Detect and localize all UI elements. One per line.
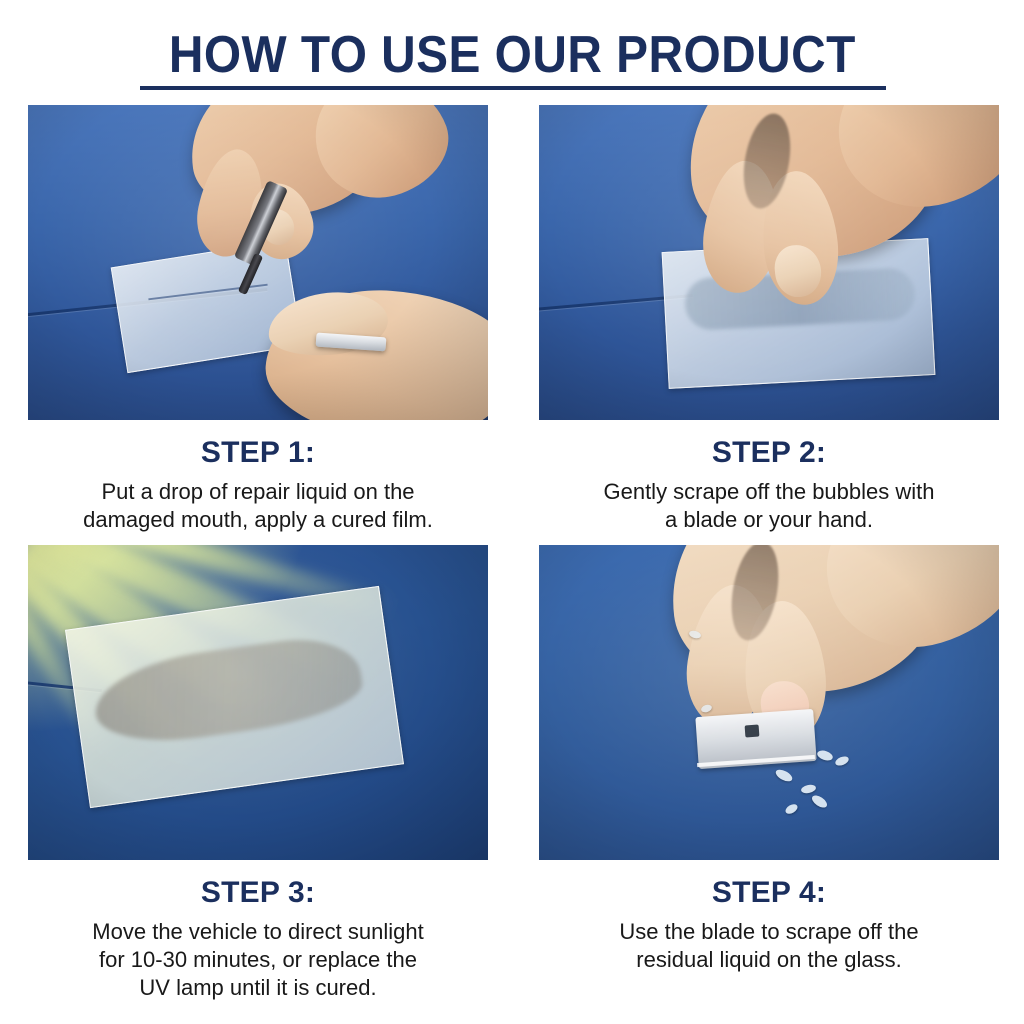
step-1-photo — [28, 105, 488, 420]
page-title-wrap: HOW TO USE OUR PRODUCT — [0, 28, 1024, 82]
caption-line: Put a drop of repair liquid on the — [28, 478, 488, 506]
caption-line: damaged mouth, apply a cured film. — [28, 506, 488, 534]
photo-vignette — [28, 545, 488, 860]
step-2-caption: Gently scrape off the bubbles with a bla… — [539, 478, 999, 534]
step-card-3: STEP 3: Move the vehicle to direct sunli… — [28, 545, 488, 1002]
step-card-1: STEP 1: Put a drop of repair liquid on t… — [28, 105, 488, 534]
step-4-label: STEP 4: — [539, 876, 999, 910]
caption-line: Gently scrape off the bubbles with — [539, 478, 999, 506]
step-1-caption: Put a drop of repair liquid on the damag… — [28, 478, 488, 534]
infographic-page: HOW TO USE OUR PRODUCT — [0, 0, 1024, 1024]
photo-vignette — [539, 545, 999, 860]
step-2-label: STEP 2: — [539, 436, 999, 470]
caption-line: residual liquid on the glass. — [539, 946, 999, 974]
photo-vignette — [539, 105, 999, 420]
page-title: HOW TO USE OUR PRODUCT — [169, 28, 856, 82]
caption-line: Use the blade to scrape off the — [539, 918, 999, 946]
step-4-caption: Use the blade to scrape off the residual… — [539, 918, 999, 974]
caption-line: for 10-30 minutes, or replace the — [28, 946, 488, 974]
step-card-4: STEP 4: Use the blade to scrape off the … — [539, 545, 999, 974]
step-2-photo — [539, 105, 999, 420]
step-3-photo — [28, 545, 488, 860]
step-1-label: STEP 1: — [28, 436, 488, 470]
photo-vignette — [28, 105, 488, 420]
step-4-photo — [539, 545, 999, 860]
step-card-2: STEP 2: Gently scrape off the bubbles wi… — [539, 105, 999, 534]
caption-line: a blade or your hand. — [539, 506, 999, 534]
caption-line: UV lamp until it is cured. — [28, 974, 488, 1002]
caption-line: Move the vehicle to direct sunlight — [28, 918, 488, 946]
step-3-caption: Move the vehicle to direct sunlight for … — [28, 918, 488, 1002]
title-underline — [140, 86, 886, 90]
step-3-label: STEP 3: — [28, 876, 488, 910]
